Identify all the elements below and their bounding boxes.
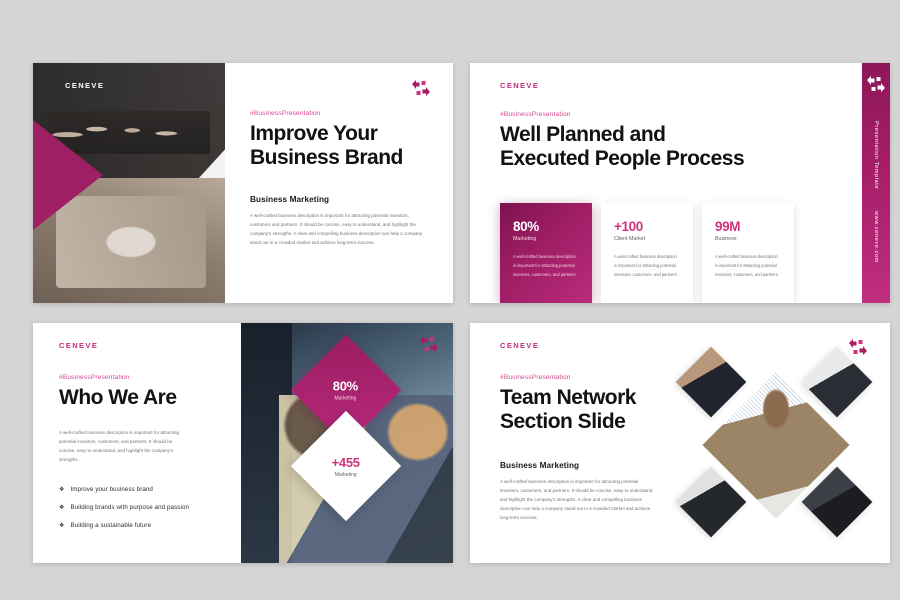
subheading: Business Marketing: [500, 461, 670, 470]
stat-value: 80%: [513, 219, 579, 234]
stat-card[interactable]: +100 Client Market A well-crafted busine…: [601, 203, 693, 303]
team-network-diagram: [664, 345, 880, 543]
stat-value: +100: [614, 219, 680, 234]
headline-line-1: Improve Your: [250, 122, 428, 146]
headline-line-2: Section Slide: [500, 410, 670, 434]
list-item-label: Improve your business brand: [70, 486, 153, 493]
wordmark: CENEVE: [59, 341, 241, 350]
list-item[interactable]: ❖ Building brands with purpose and passi…: [59, 504, 241, 511]
subheading: Business Marketing: [250, 195, 428, 204]
headline-line-2: Business Brand: [250, 146, 428, 170]
page-title: Team Network Section Slide: [500, 386, 670, 435]
wordmark: CENEVE: [500, 81, 890, 90]
body-paragraph: A well-crafted business description is i…: [500, 477, 655, 522]
stat-card[interactable]: 80% Marketing A well-crafted business de…: [500, 203, 592, 303]
slide-who-we-are[interactable]: CENEVE #BusinessPresentation Who We Are …: [33, 323, 453, 563]
slide2-content: CENEVE #BusinessPresentation Well Planne…: [470, 63, 890, 172]
wordmark: CENEVE: [65, 81, 104, 90]
body-paragraph: A well-crafted business description is i…: [250, 211, 428, 247]
stat-value: +455: [332, 455, 360, 470]
hashtag: #BusinessPresentation: [59, 374, 241, 381]
stat-description: A well-crafted business description is i…: [614, 253, 680, 279]
slide4-heading-block: #BusinessPresentation Team Network Secti…: [500, 374, 670, 435]
diamond-bullet-icon: ❖: [59, 504, 64, 511]
hashtag: #BusinessPresentation: [500, 111, 890, 118]
arrows-logo-icon: [866, 75, 886, 93]
slide1-media-column: CENEVE: [33, 63, 225, 303]
stat-value: 99M: [715, 219, 781, 234]
slide3-text-column: CENEVE #BusinessPresentation Who We Are …: [33, 323, 241, 563]
avatar: [676, 347, 747, 418]
arrows-logo-icon: [419, 335, 439, 353]
stat-value: 80%: [333, 379, 358, 394]
slide2-side-bar: Presentation Template www.ceneve.com: [862, 63, 890, 303]
list-item[interactable]: ❖ Improve your business brand: [59, 486, 241, 493]
stat-label: Client Market: [614, 236, 680, 242]
page-title: Improve Your Business Brand: [250, 122, 428, 171]
wordmark: CENEVE: [500, 341, 670, 350]
slide-deck-preview: CENEVE #BusinessPresentation: [0, 0, 900, 600]
slide1-text-column: #BusinessPresentation Improve Your Busin…: [225, 63, 453, 303]
stat-label: Marketing: [333, 396, 358, 402]
slide3-heading-block: #BusinessPresentation Who We Are: [59, 374, 241, 410]
slide4-text-column: CENEVE #BusinessPresentation Team Networ…: [470, 323, 670, 522]
stat-diamond-marketing-count[interactable]: +455 Marketing: [291, 411, 401, 521]
page-title: Who We Are: [59, 386, 241, 410]
stat-label: Marketing: [513, 236, 579, 242]
hashtag: #BusinessPresentation: [500, 374, 670, 381]
headline-line-2: Executed People Process: [500, 147, 890, 171]
stat-card[interactable]: 99M Business A well-crafted business des…: [702, 203, 794, 303]
diamond-bullet-icon: ❖: [59, 522, 64, 529]
list-item-label: Building a sustainable future: [70, 522, 151, 529]
headline-line-1: Well Planned and: [500, 123, 890, 147]
body-paragraph: A well-crafted business description is i…: [59, 428, 181, 464]
slide-improve-your-business-brand[interactable]: CENEVE #BusinessPresentation: [33, 63, 453, 303]
stat-label: Marketing: [332, 472, 360, 478]
stat-description: A well-crafted business description is i…: [513, 253, 579, 279]
photo-two-colleagues: 80% Marketing +455 Marketing: [241, 323, 453, 563]
sidebar-label-website[interactable]: www.ceneve.com: [873, 211, 879, 263]
slide-team-network-section[interactable]: CENEVE #BusinessPresentation Team Networ…: [470, 323, 890, 563]
hashtag: #BusinessPresentation: [250, 110, 428, 117]
team-member-photo[interactable]: [676, 347, 747, 418]
sidebar-label-template: Presentation Template: [873, 121, 879, 189]
diamond-bullet-icon: ❖: [59, 486, 64, 493]
page-title: Well Planned and Executed People Process: [500, 123, 890, 172]
slide2-heading-block: #BusinessPresentation Well Planned and E…: [500, 111, 890, 172]
arrows-logo-icon: [411, 79, 431, 97]
stat-description: A well-crafted business description is i…: [715, 253, 781, 279]
stat-label: Business: [715, 236, 781, 242]
headline-line-1: Team Network: [500, 386, 670, 410]
feature-list: ❖ Improve your business brand ❖ Building…: [59, 486, 241, 529]
stat-card-group: 80% Marketing A well-crafted business de…: [500, 203, 794, 303]
list-item[interactable]: ❖ Building a sustainable future: [59, 522, 241, 529]
list-item-label: Building brands with purpose and passion: [70, 504, 189, 511]
slide-well-planned-and-executed-people-process[interactable]: CENEVE #BusinessPresentation Well Planne…: [470, 63, 890, 303]
